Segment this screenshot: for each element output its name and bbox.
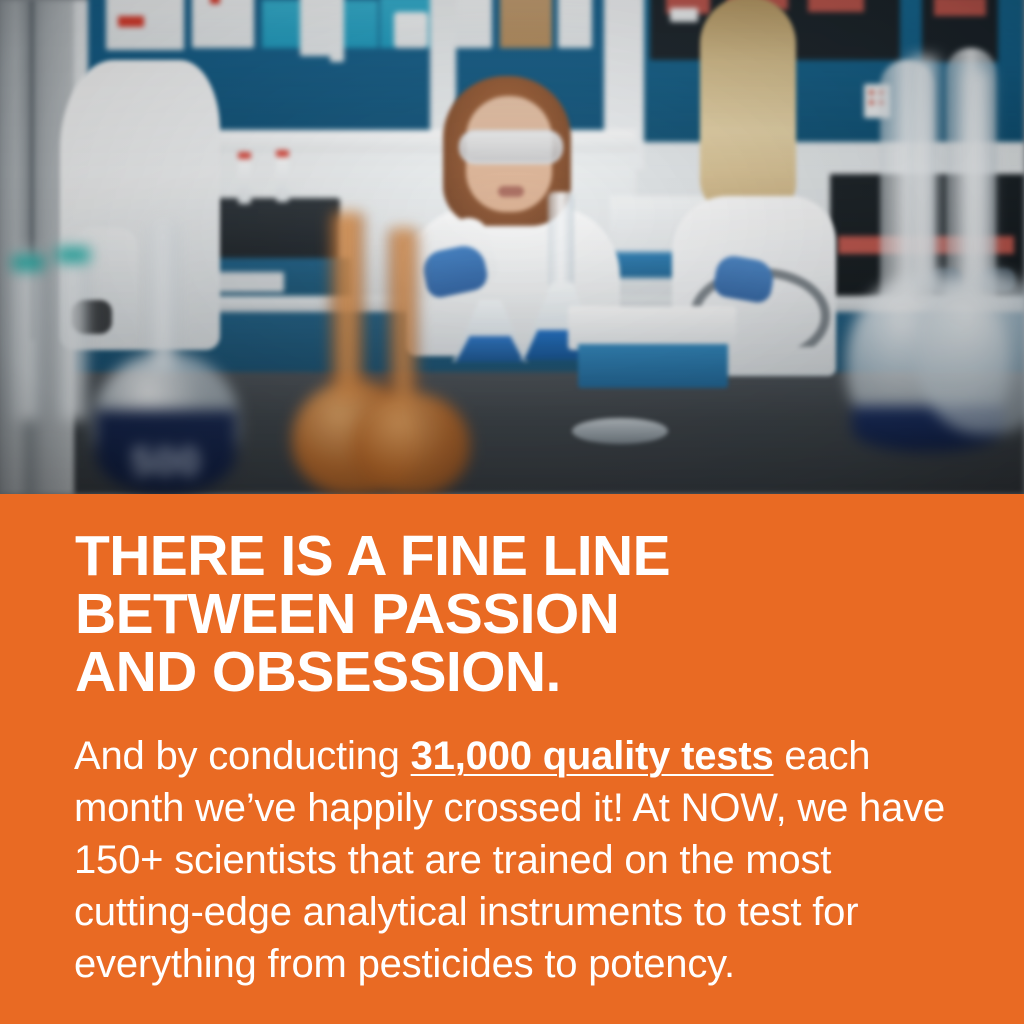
foreground-glassware: 500 (0, 0, 1024, 494)
body-paragraph: And by conducting 31,000 quality tests e… (74, 730, 954, 990)
quality-tests-emphasis: 31,000 quality tests (411, 734, 774, 778)
page-title: THERE IS A FINE LINE BETWEEN PASSION AND… (75, 527, 975, 701)
headline-line-1: THERE IS A FINE LINE (75, 527, 975, 585)
lab-photo: 500 (0, 0, 1024, 494)
headline-line-2: BETWEEN PASSION (75, 585, 975, 643)
body-text-part-1: And by conducting (74, 734, 411, 778)
amber-flask-neck (388, 228, 418, 406)
amber-flask-neck (330, 212, 364, 402)
orange-text-panel: THERE IS A FINE LINE BETWEEN PASSION AND… (0, 494, 1024, 1024)
pipette (14, 250, 42, 420)
volumetric-flask-neck (150, 222, 176, 370)
pipette-cap (12, 256, 44, 270)
flask-volume-label: 500 (112, 440, 220, 484)
pipette (58, 240, 88, 420)
clear-flask-neck (906, 56, 940, 286)
amber-flask (352, 392, 470, 494)
pipette-cap (56, 248, 90, 262)
social-card: 500 THERE IS A FINE LINE BETWEEN PASSION… (0, 0, 1024, 1024)
headline-line-3: AND OBSESSION. (75, 643, 975, 701)
clear-flask-neck (962, 70, 992, 284)
